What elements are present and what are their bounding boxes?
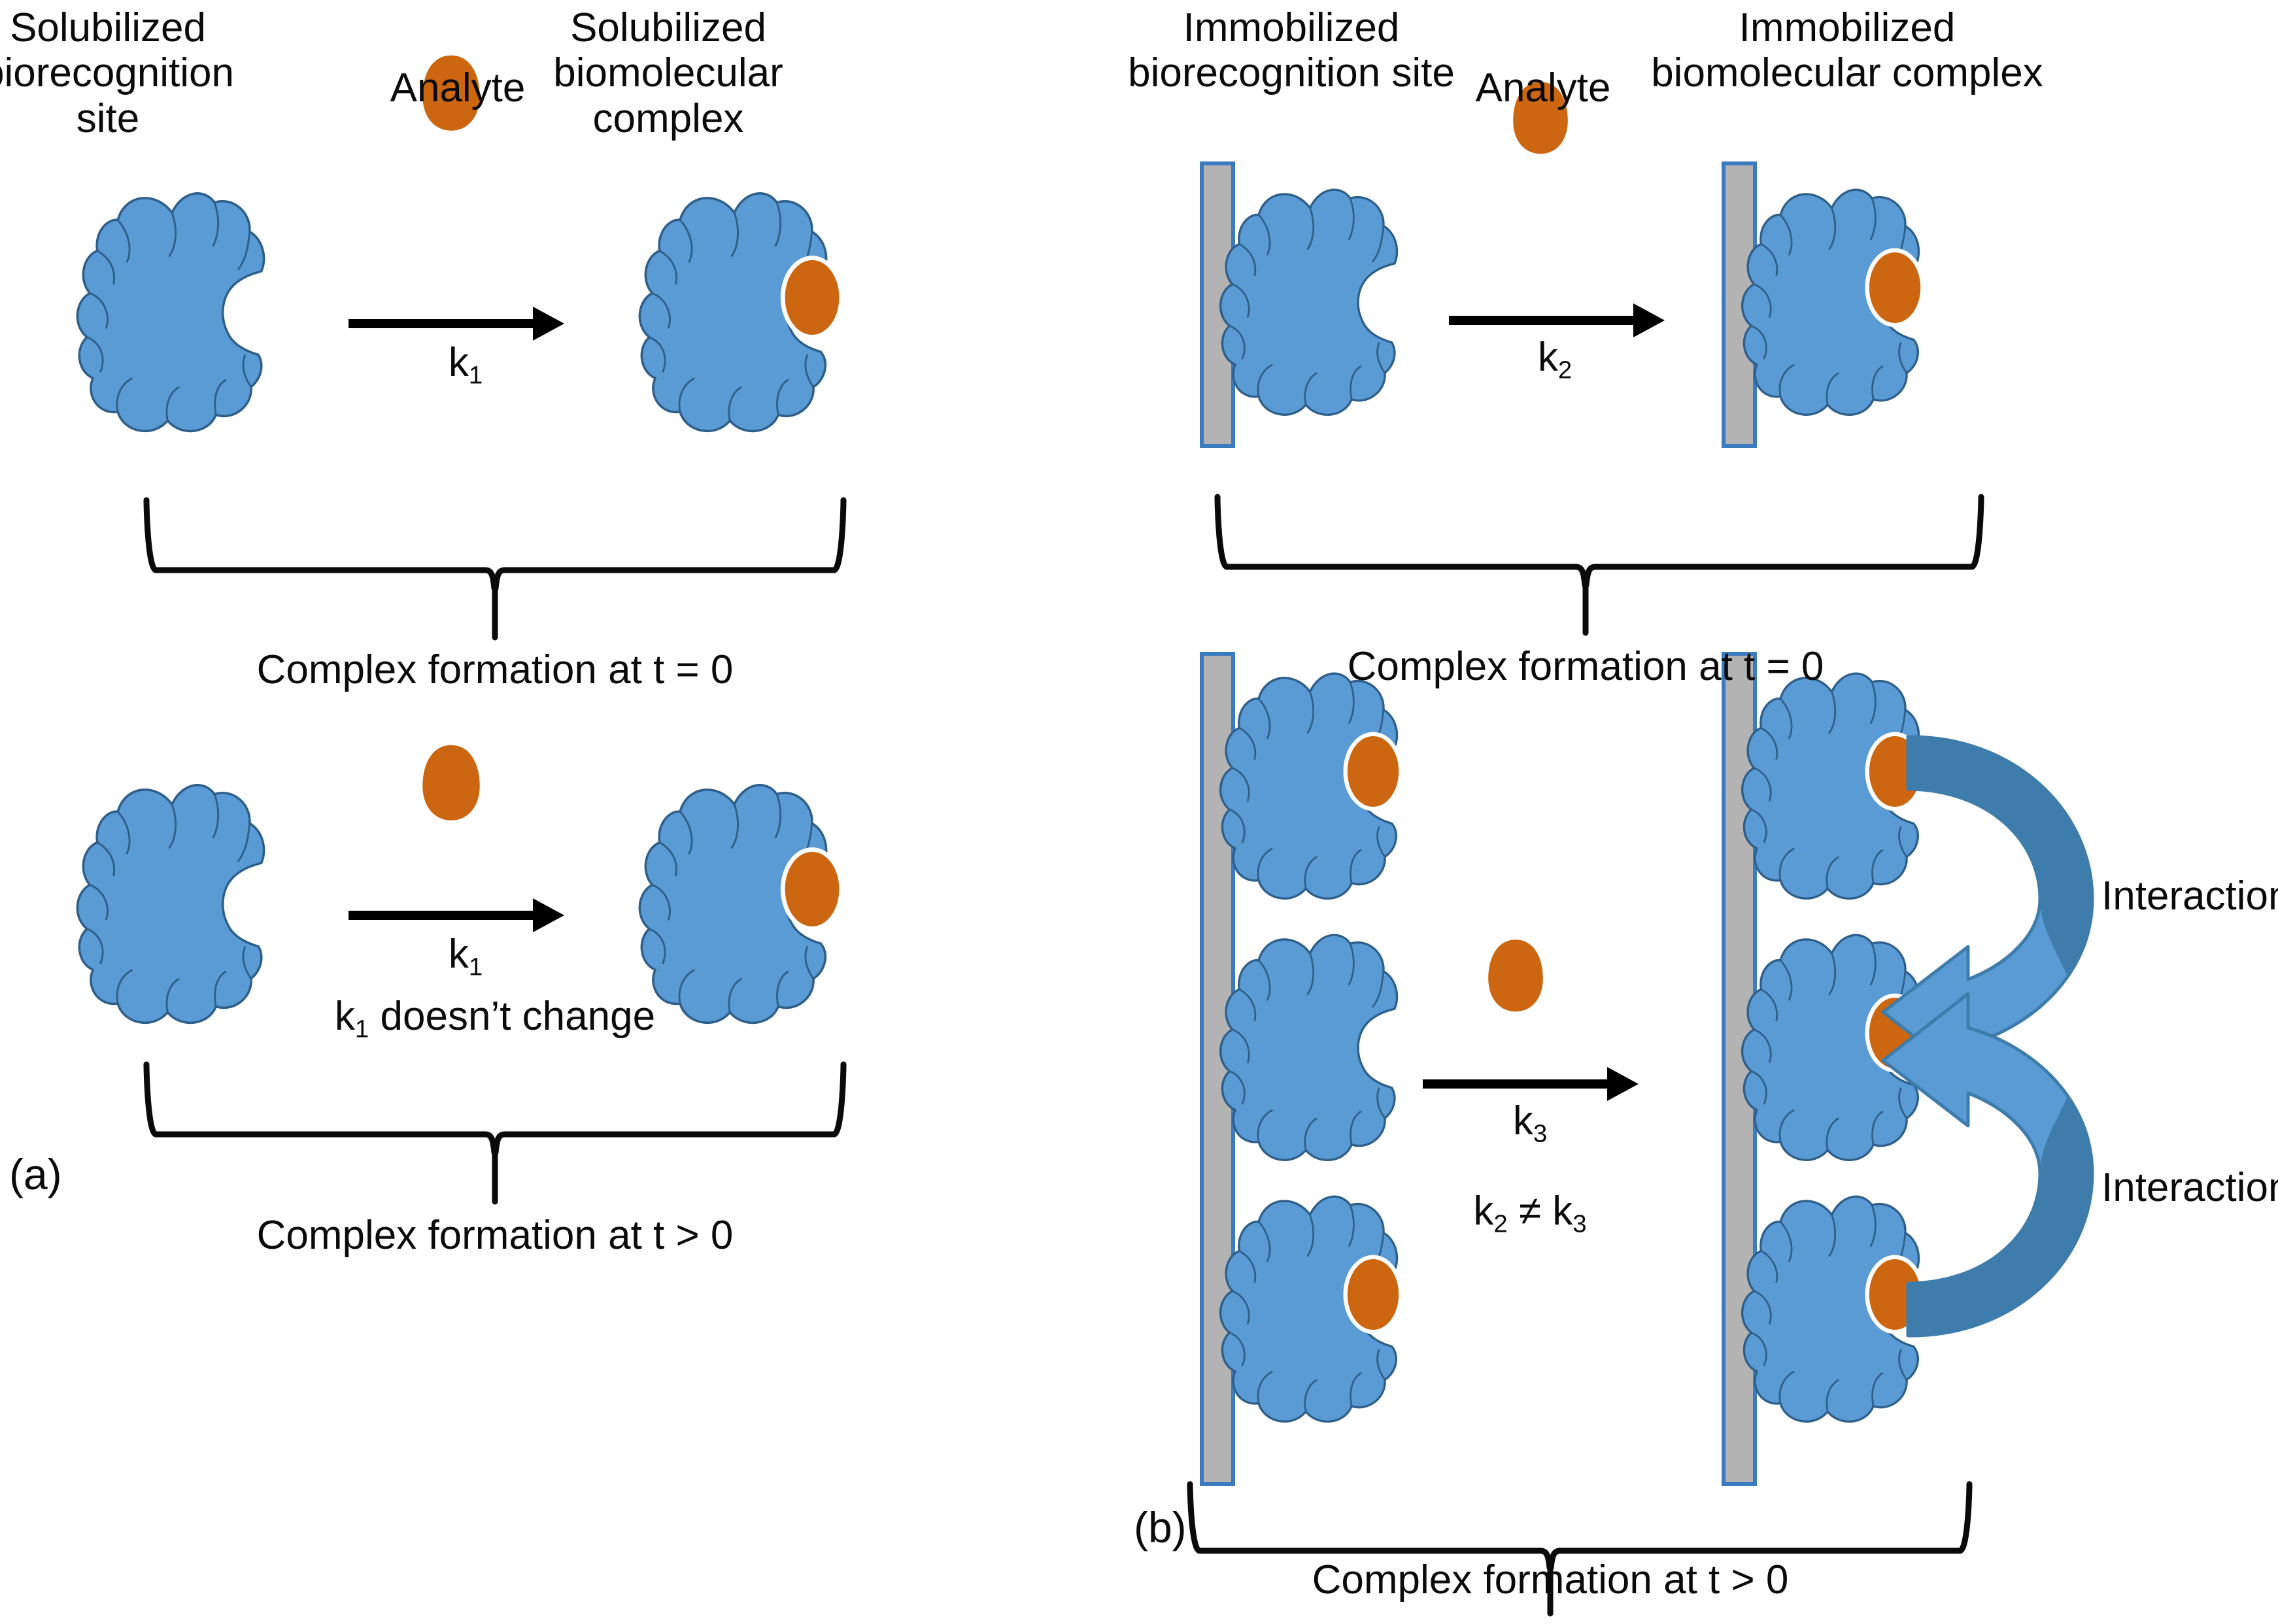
interaction-arrow-bottom [1883, 994, 2092, 1336]
inequality-spacer-left [1508, 1189, 1519, 1234]
panel-a-row1-bound-analyte [781, 256, 843, 339]
panel-b-row1-right-substrate [1724, 163, 1755, 446]
panel-b-row2-right-protein-middle [1742, 935, 1919, 1160]
panel-a-row2-reactant-protein [77, 785, 263, 1023]
panel-b-row2-right-protein-bottom [1742, 1196, 1919, 1421]
panel-b-row2-right-protein-top [1742, 673, 1919, 898]
panel-b-row2-left-protein-middle [1221, 935, 1397, 1160]
panel-a-row1-product-protein [639, 194, 826, 431]
rate-constant-k: k [449, 340, 469, 385]
inequality-rhs-k: k [1552, 1189, 1572, 1234]
note-text [369, 994, 380, 1039]
rate-constant-k: k [1513, 1098, 1533, 1143]
inequality-spacer-right [1541, 1189, 1552, 1234]
panel-a-row1-reaction-arrow [348, 307, 564, 341]
panel-a-row2-analyte [422, 745, 479, 820]
panel-b-row1-bound-analyte [1865, 248, 1924, 328]
panel-b-row1-reactant-protein [1221, 190, 1397, 414]
panel-a-left-title: Solubilized biorecognition site [0, 5, 234, 141]
panel-b-row2-analyte [1488, 939, 1543, 1011]
panel-b-label: (b) [1134, 1504, 1187, 1552]
interaction-arrow-top [1883, 737, 2092, 1079]
panel-a-analyte-label: Analyte [390, 65, 526, 110]
rate-constant-subscript: 1 [469, 362, 483, 390]
rate-constant-subscript: 3 [1533, 1120, 1547, 1148]
panel-a-row2-caption: Complex formation at t > 0 [257, 1213, 734, 1258]
panel-a-row1-reactant-protein [77, 194, 263, 431]
inequality-lhs-k: k [1473, 1189, 1493, 1234]
note-phrase: doesn’t change [381, 994, 656, 1039]
panel-b-row2-reaction-arrow [1423, 1067, 1639, 1101]
panel-b-row2-caption: Complex formation at t > 0 [1312, 1557, 1789, 1602]
panel-b-row1-product-protein [1742, 190, 1919, 414]
panel-b-row1-brace [1217, 497, 1981, 633]
panel-b-right-title: Immobilized biomolecular complex [1651, 5, 2043, 96]
panel-b-row2-left-protein-top [1221, 673, 1397, 898]
diagram-graphics-layer [0, 0, 2278, 1624]
panel-b-row2-rate-constant: k3 [1513, 1098, 1547, 1148]
panel-b-row2-right-bound-analyte-bottom [1865, 1255, 1924, 1334]
panel-a-row2-note: k1 doesn’t change [335, 994, 655, 1043]
panel-a-right-title: Solubilized biomolecular complex [553, 5, 783, 141]
panel-a-row2-brace [146, 1064, 843, 1202]
panel-a-row1-caption: Complex formation at t = 0 [257, 647, 734, 692]
interaction-label-top: Interaction [2101, 873, 2278, 919]
panel-a-row2-reaction-arrow [348, 898, 564, 932]
panel-a-row2-rate-constant: k1 [449, 932, 483, 981]
panel-b-analyte-label: Analyte [1476, 65, 1611, 110]
panel-a-row2-product-protein [639, 785, 826, 1023]
panel-b-row1-reaction-arrow [1449, 303, 1665, 337]
panel-b-left-title: Immobilized biorecognition site [1128, 5, 1455, 96]
panel-b-row2-left-bound-analyte-top [1343, 732, 1402, 811]
panel-b-row2-right-bound-analyte-middle [1865, 994, 1924, 1073]
panel-b-row2-right-substrate [1724, 654, 1755, 1484]
panel-a-row2-bound-analyte [781, 847, 843, 931]
panel-a-row1-brace [146, 500, 843, 637]
rate-constant-k: k [335, 994, 355, 1039]
rate-constant-subscript: 2 [1558, 356, 1572, 384]
panel-a-label: (a) [9, 1151, 62, 1199]
panel-b-row2-left-protein-bottom [1221, 1196, 1397, 1421]
not-equal-icon: ≠ [1519, 1189, 1541, 1234]
panel-b-row2-left-substrate [1202, 654, 1233, 1484]
panel-a-row1-rate-constant: k1 [449, 340, 483, 390]
rate-constant-subscript: 1 [355, 1015, 369, 1043]
inequality-rhs-subscript: 3 [1572, 1210, 1586, 1238]
interaction-label-bottom: Interaction [2101, 1165, 2278, 1210]
inequality-lhs-subscript: 2 [1493, 1210, 1507, 1238]
panel-b-row2-left-bound-analyte-bottom [1343, 1255, 1402, 1334]
rate-constant-subscript: 1 [469, 953, 483, 981]
panel-b-row2-right-bound-analyte-top [1865, 732, 1924, 811]
panel-b-rate-inequality: k2 ≠ k3 [1473, 1189, 1586, 1238]
rate-constant-k: k [1538, 335, 1558, 380]
panel-b-row1-caption: Complex formation at t = 0 [1348, 644, 1824, 689]
panel-b-row1-left-substrate [1202, 163, 1233, 446]
rate-constant-k: k [449, 932, 469, 977]
panel-b-row1-rate-constant: k2 [1538, 335, 1572, 384]
